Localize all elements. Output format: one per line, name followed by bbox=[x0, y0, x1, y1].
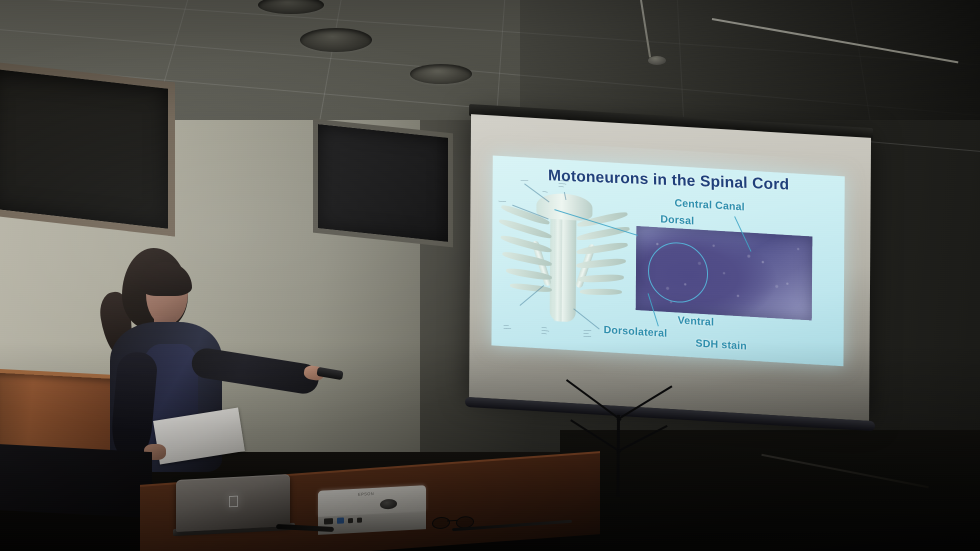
lecture-room-photo: Motoneurons in the Spinal Cord bbox=[0, 0, 980, 551]
scene-vignette bbox=[0, 0, 980, 551]
